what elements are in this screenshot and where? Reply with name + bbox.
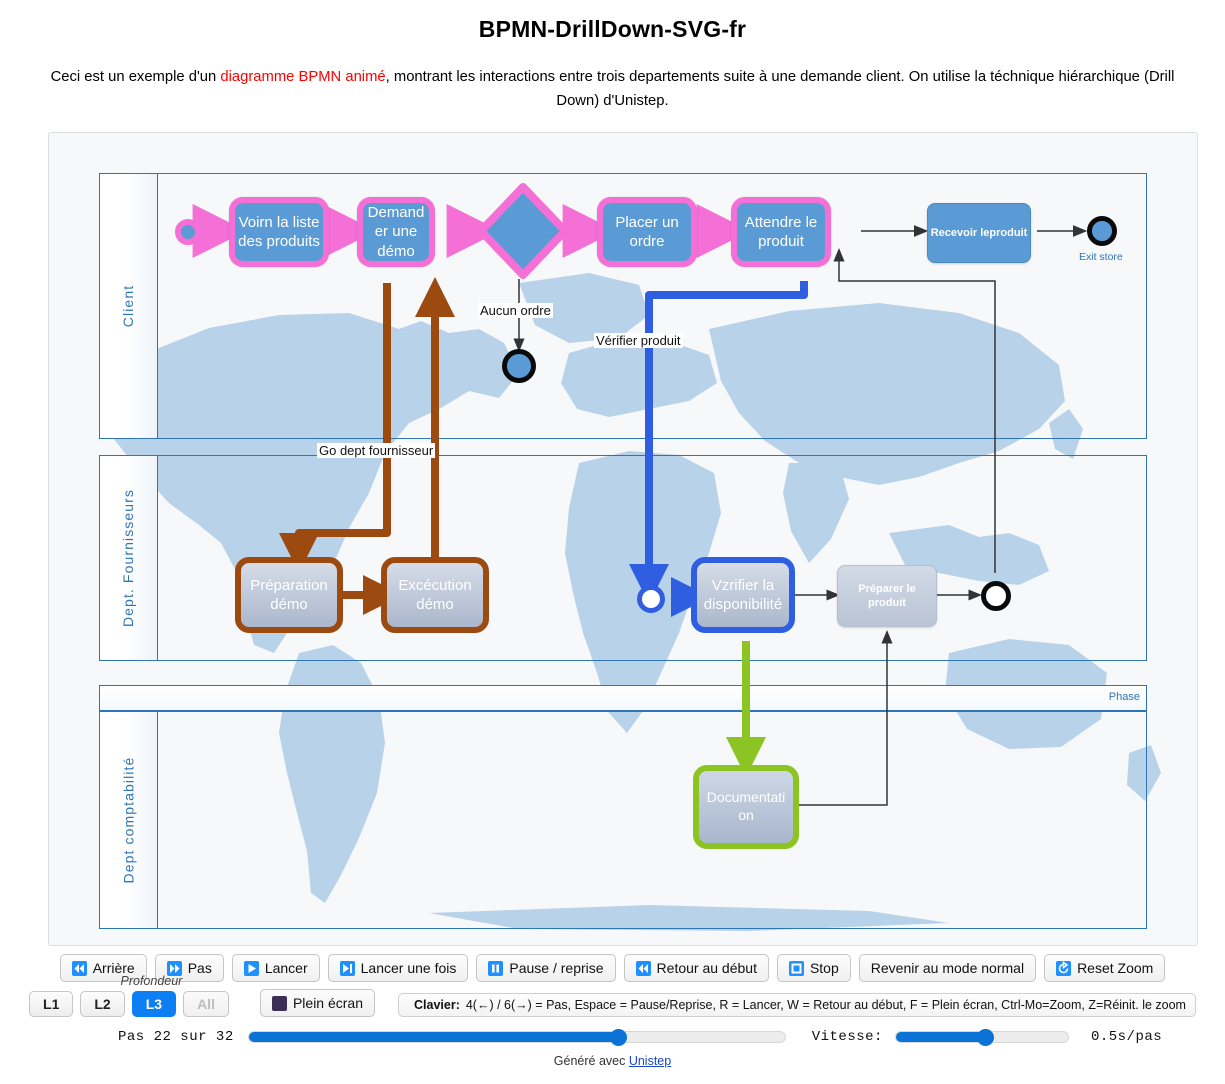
exit-store-caption: Exit store (1079, 251, 1123, 263)
intro-text-after: , montrant les interactions entre trois … (386, 69, 1175, 109)
task-placer-ordre[interactable]: Placer un ordre (597, 197, 697, 267)
intro-text-before: Ceci est un exemple d'un (51, 69, 221, 85)
skip-backward-icon (72, 961, 87, 976)
normal-mode-button[interactable]: Revenir au mode normal (859, 954, 1036, 982)
task-label: Documentati on (699, 789, 793, 825)
step-counter-label: Pas 22 sur 32 (118, 1029, 234, 1045)
edge-label-go-dept-fournisseur: Go dept fournisseur (317, 443, 435, 458)
pause-icon (488, 961, 503, 976)
reset-zoom-button-label: Reset Zoom (1077, 960, 1153, 976)
speed-value: 0.5s/pas (1091, 1029, 1162, 1045)
task-label: Placer un ordre (603, 213, 691, 251)
footer-link[interactable]: Unistep (629, 1054, 671, 1068)
fullscreen-button-label: Plein écran (293, 995, 363, 1011)
stop-button[interactable]: Stop (777, 954, 851, 982)
task-label: Vzrifier la disponibilité (697, 576, 789, 614)
task-voir-liste-produits[interactable]: Voirn la liste des produits (229, 197, 329, 267)
intermediate-event-verifier[interactable] (637, 585, 665, 613)
reset-zoom-icon (1056, 961, 1071, 976)
task-excecution-demo[interactable]: Excécution démo (381, 557, 489, 633)
task-label: Attendre le produit (737, 213, 825, 251)
depth-level-all: All (183, 991, 229, 1017)
pause-resume-button-label: Pause / reprise (509, 960, 603, 976)
play-once-button[interactable]: Lancer une fois (328, 954, 469, 982)
play-button[interactable]: Lancer (232, 954, 320, 982)
normal-mode-button-label: Revenir au mode normal (871, 960, 1024, 976)
task-label: Préparation démo (241, 576, 337, 614)
task-vzrifier-disponibilite[interactable]: Vzrifier la disponibilité (691, 557, 795, 633)
page-title: BPMN-DrillDown-SVG-fr (0, 16, 1225, 43)
task-label: Demand er une démo (363, 203, 429, 261)
depth-level-l2[interactable]: L2 (80, 991, 124, 1017)
reset-zoom-button[interactable]: Reset Zoom (1044, 954, 1165, 982)
depth-label: Profondeur (121, 974, 183, 988)
speed-slider-knob[interactable] (977, 1029, 994, 1046)
task-preparation-demo[interactable]: Préparation démo (235, 557, 343, 633)
task-demander-demo[interactable]: Demand er une démo (357, 197, 435, 267)
speed-label: Vitesse: (812, 1029, 883, 1045)
restart-button[interactable]: Retour au début (624, 954, 769, 982)
player-controls: Arrière Pas Lancer Lancer une fois Pause (0, 954, 1225, 1068)
play-once-icon (340, 961, 355, 976)
fullscreen-icon (272, 996, 287, 1011)
end-event-fournisseurs[interactable] (981, 581, 1011, 611)
speed-slider-fill (896, 1032, 985, 1042)
end-event-exit-store[interactable] (1087, 216, 1117, 246)
depth-level-l3[interactable]: L3 (132, 991, 176, 1017)
restart-button-label: Retour au début (657, 960, 757, 976)
end-event-aucun-ordre[interactable] (502, 349, 536, 383)
task-label: Excécution démo (387, 576, 483, 614)
task-recevoir-produit[interactable]: Recevoir leproduit (927, 203, 1031, 263)
edge-label-aucun-ordre: Aucun ordre (478, 303, 553, 318)
footer-text: Généré avec (554, 1054, 629, 1068)
depth-and-hint-row: Profondeur L1 L2 L3 All Plein écran Clav… (0, 989, 1225, 1017)
play-icon (244, 961, 259, 976)
rewind-icon (636, 961, 651, 976)
task-documentation[interactable]: Documentati on (693, 765, 799, 849)
intro-paragraph: Ceci est un exemple d'un diagramme BPMN … (40, 65, 1185, 113)
task-attendre-produit[interactable]: Attendre le produit (731, 197, 831, 267)
speed-slider[interactable] (895, 1031, 1069, 1043)
depth-level-l1[interactable]: L1 (29, 991, 73, 1017)
start-event[interactable] (175, 219, 201, 245)
task-label: Voirn la liste des produits (235, 213, 323, 251)
play-once-button-label: Lancer une fois (361, 960, 457, 976)
pause-resume-button[interactable]: Pause / reprise (476, 954, 615, 982)
task-label: Recevoir leproduit (931, 226, 1028, 240)
stop-button-label: Stop (810, 960, 839, 976)
step-button-label: Pas (188, 960, 212, 976)
gateway-exclusive[interactable] (477, 183, 569, 279)
footer: Généré avec Unistep (0, 1054, 1225, 1068)
step-slider[interactable] (248, 1031, 786, 1043)
keyboard-hint-text: 4(←) / 6(→) = Pas, Espace = Pause/Repris… (466, 998, 1186, 1012)
bpmn-diagram-canvas[interactable]: Client Dept. Fournisseurs Phase Dept com… (48, 132, 1198, 946)
timeline-row: Pas 22 sur 32 Vitesse: 0.5s/pas (0, 1029, 1225, 1045)
transport-button-row: Arrière Pas Lancer Lancer une fois Pause (0, 954, 1225, 982)
fullscreen-button[interactable]: Plein écran (260, 989, 375, 1017)
intro-link[interactable]: diagramme BPMN animé (220, 69, 385, 85)
step-slider-fill (249, 1032, 619, 1042)
task-preparer-produit[interactable]: Préparer le produit (837, 565, 937, 627)
keyboard-hint: Clavier:4(←) / 6(→) = Pas, Espace = Paus… (398, 993, 1196, 1017)
stop-icon (789, 961, 804, 976)
task-label: Préparer le produit (838, 582, 936, 610)
edge-label-verifier-produit: Vérifier produit (594, 333, 683, 348)
step-slider-knob[interactable] (610, 1029, 627, 1046)
play-button-label: Lancer (265, 960, 308, 976)
keyboard-hint-prefix: Clavier: (414, 998, 460, 1012)
